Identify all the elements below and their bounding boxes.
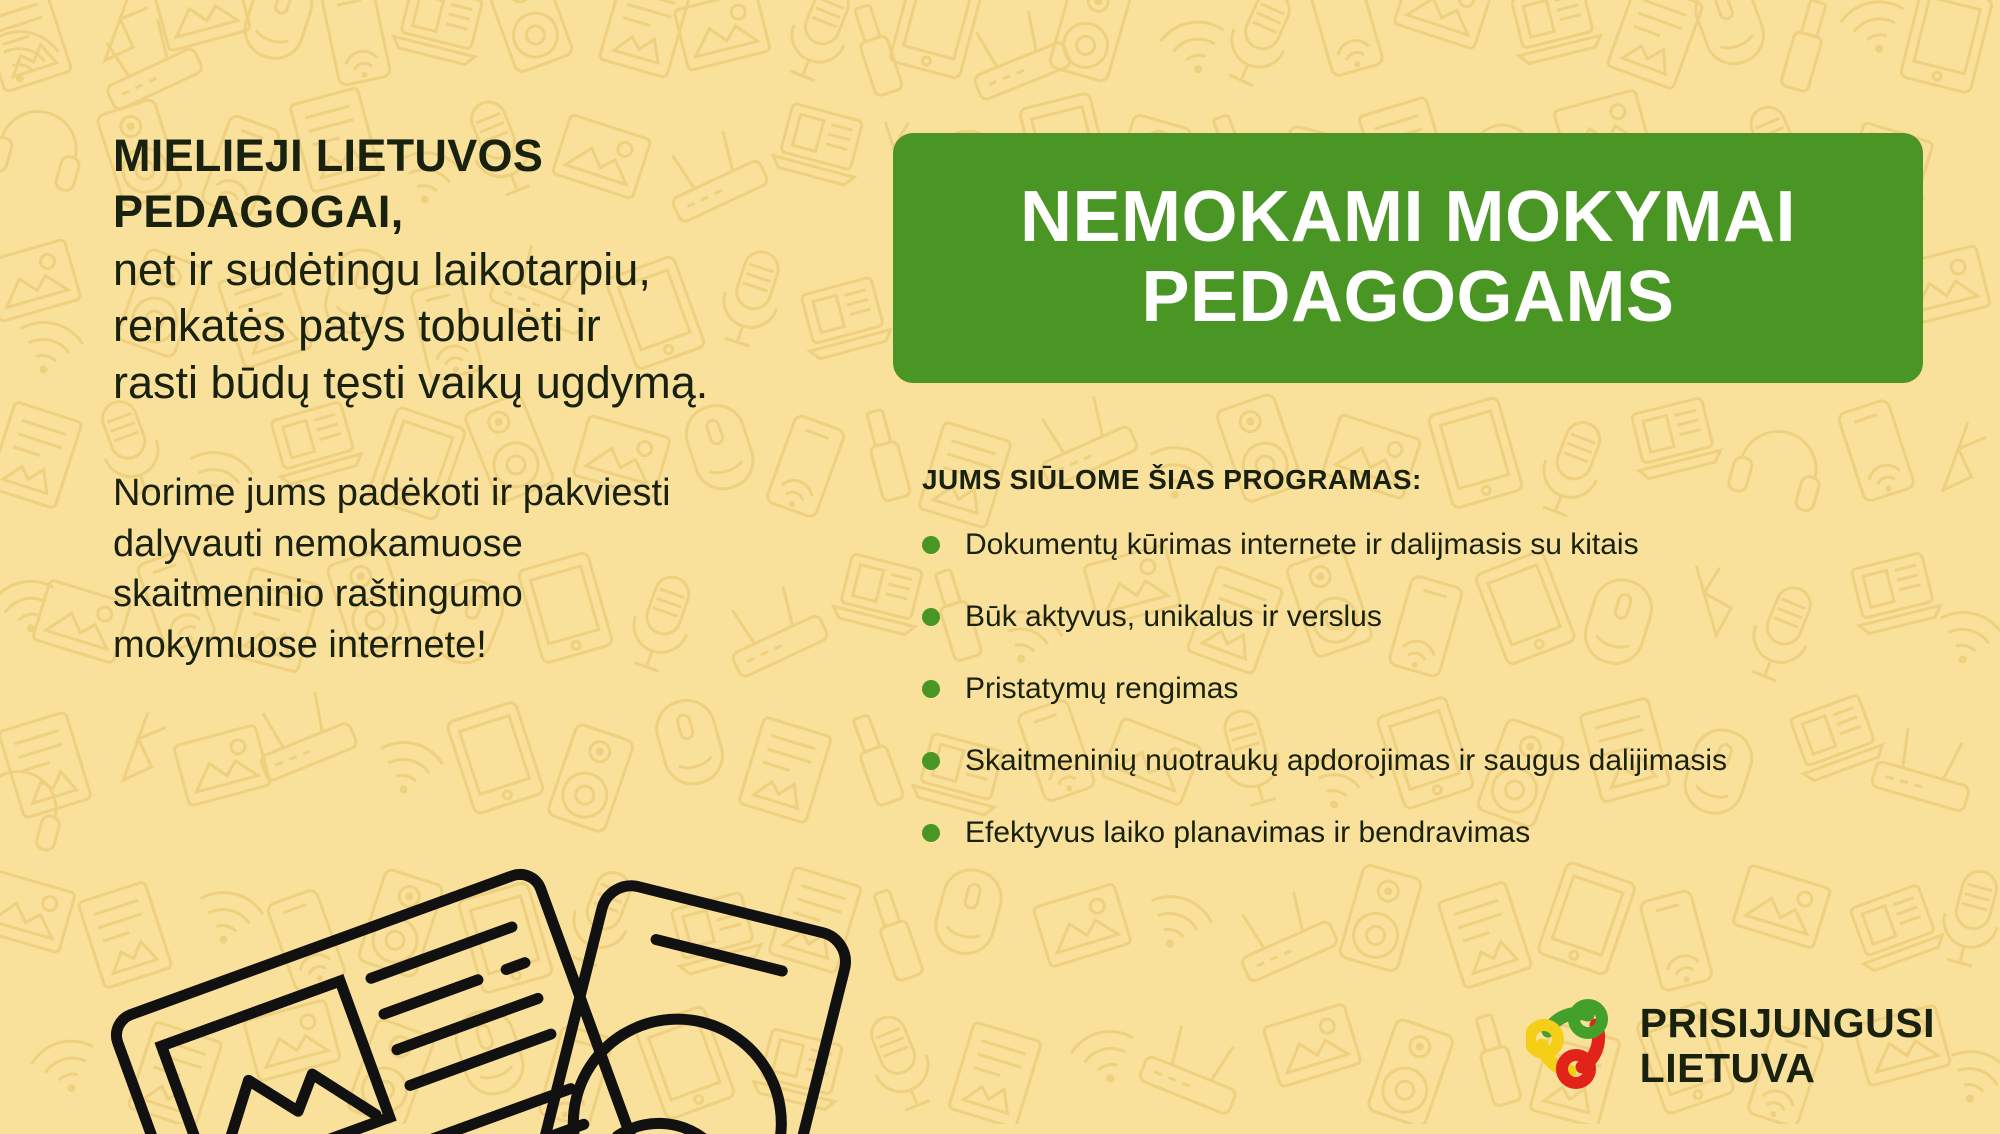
invitation-line-3: skaitmeninio raštingumo (113, 569, 753, 620)
program-label: Pristatymų rengimas (965, 671, 1238, 707)
tilted-phone-wifi-icon (505, 879, 852, 1134)
program-label: Skaitmeninių nuotraukų apdorojimas ir sa… (965, 743, 1727, 779)
invitation-line-2: dalyvauti nemokamuose (113, 519, 753, 570)
tilted-article-document-icon (110, 868, 646, 1134)
invitation-line-1: Norime jums padėkoti ir pakviesti (113, 468, 753, 519)
banner-title: NEMOKAMI MOKYMAI PEDAGOGAMS (996, 178, 1820, 338)
headline-bold: MIELIEJI LIETUVOS PEDAGOGAI, (113, 128, 753, 240)
logo-wordmark: PRISIJUNGUSI LIETUVA (1640, 1001, 1935, 1090)
program-label: Būk aktyvus, unikalus ir verslus (965, 599, 1382, 635)
poster-canvas: MIELIEJI LIETUVOS PEDAGOGAI, net ir sudė… (0, 0, 2000, 1124)
green-title-banner: NEMOKAMI MOKYMAI PEDAGOGAMS (893, 133, 1923, 383)
headline-normal-line-3: rasti būdų tęsti vaikų ugdymą. (113, 355, 753, 412)
headline-normal-line-2: renkatės patys tobulėti ir (113, 298, 753, 355)
list-item: Būk aktyvus, unikalus ir verslus (922, 599, 1942, 635)
logo-wordmark-line-1: PRISIJUNGUSI (1640, 1001, 1935, 1045)
headline-normal: net ir sudėtingu laikotarpiu, renkatės p… (113, 242, 753, 412)
program-label: Efektyvus laiko planavimas ir bendravima… (965, 815, 1530, 851)
headline-bold-line-2: PEDAGOGAI, (113, 184, 753, 240)
programs-heading: JUMS SIŪLOME ŠIAS PROGRAMAS: (922, 464, 1942, 496)
program-label: Dokumentų kūrimas internete ir dalijmasi… (965, 527, 1639, 563)
logo-wordmark-line-2: LIETUVA (1640, 1046, 1935, 1090)
brand-logo: PRISIJUNGUSI LIETUVA (1526, 997, 1935, 1094)
list-item: Pristatymų rengimas (922, 671, 1942, 707)
network-nodes-logo-icon (1526, 997, 1618, 1094)
headline-bold-line-1: MIELIEJI LIETUVOS (113, 128, 753, 184)
invitation-paragraph: Norime jums padėkoti ir pakviesti dalyva… (113, 468, 753, 672)
headline-normal-line-1: net ir sudėtingu laikotarpiu, (113, 242, 753, 299)
list-item: Dokumentų kūrimas internete ir dalijmasi… (922, 527, 1942, 563)
bullet-dot-icon (922, 608, 940, 626)
bottom-left-illustration (70, 804, 900, 1134)
invitation-line-4: mokymuose internete! (113, 620, 753, 671)
banner-title-line-2: PEDAGOGAMS (1020, 258, 1796, 338)
list-item: Skaitmeninių nuotraukų apdorojimas ir sa… (922, 743, 1942, 779)
banner-title-line-1: NEMOKAMI MOKYMAI (1020, 178, 1796, 258)
list-item: Efektyvus laiko planavimas ir bendravima… (922, 815, 1942, 851)
bullet-dot-icon (922, 536, 940, 554)
left-text-column: MIELIEJI LIETUVOS PEDAGOGAI, net ir sudė… (113, 128, 753, 671)
bullet-dot-icon (922, 680, 940, 698)
programs-section: JUMS SIŪLOME ŠIAS PROGRAMAS: Dokumentų k… (922, 464, 1942, 851)
bullet-dot-icon (922, 824, 940, 842)
bullet-dot-icon (922, 752, 940, 770)
